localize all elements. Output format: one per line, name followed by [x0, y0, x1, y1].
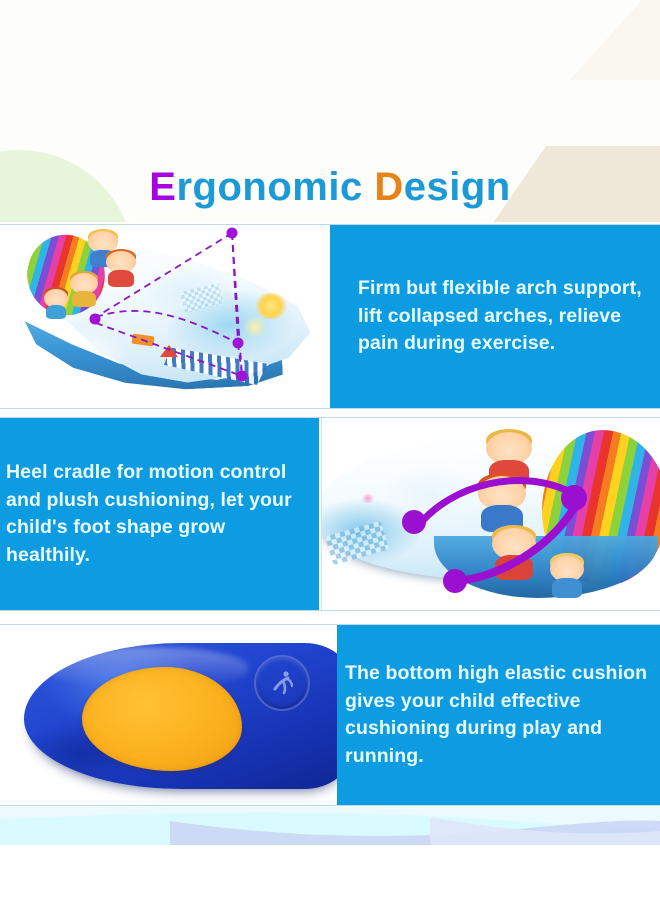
marker-dot	[227, 228, 238, 239]
feature-row-heel-cradle: Heel cradle for motion control and plush…	[0, 417, 660, 611]
feature-description: Firm but flexible arch support, lift col…	[330, 275, 660, 358]
wave-decoration	[0, 807, 660, 845]
page-title: Ergonomic Design	[0, 164, 660, 210]
marker-dot	[561, 485, 587, 511]
title-letter-e: E	[149, 165, 176, 209]
motion-arrow-upper	[418, 481, 574, 526]
feature-image-heel-cradle	[321, 418, 660, 610]
feature-text-elastic-cushion: The bottom high elastic cushion gives yo…	[337, 625, 660, 805]
feature-description: Heel cradle for motion control and plush…	[0, 459, 319, 569]
feature-text-arch-support: Firm but flexible arch support, lift col…	[330, 225, 660, 408]
marker-dot	[237, 371, 248, 382]
title-word-rgonomic: rgonomic	[176, 165, 374, 209]
feature-text-heel-cradle: Heel cradle for motion control and plush…	[0, 418, 319, 610]
diagram-marker-dots	[90, 228, 248, 382]
marker-dot	[90, 314, 101, 325]
feature-row-arch-support: Firm but flexible arch support, lift col…	[0, 224, 660, 409]
brand-logo-emboss	[254, 655, 310, 711]
motion-arrow-lower	[464, 508, 574, 580]
feature-image-arch-support	[0, 225, 330, 408]
running-figure-icon	[267, 668, 297, 698]
marker-dot	[443, 569, 467, 593]
feature-row-elastic-cushion: The bottom high elastic cushion gives yo…	[0, 624, 660, 806]
beige-corner-decoration-secondary	[570, 0, 660, 80]
heel-cradle-motion-diagram	[322, 418, 660, 610]
footer-wave-band	[0, 807, 660, 845]
insole-bottom-illustration	[24, 633, 337, 805]
title-word-esign: esign	[404, 165, 511, 209]
title-letter-d: D	[374, 165, 403, 209]
marker-dot	[402, 510, 426, 534]
feature-description: The bottom high elastic cushion gives yo…	[337, 660, 660, 770]
arch-support-diagram	[0, 225, 330, 408]
feature-image-elastic-cushion	[0, 625, 337, 805]
infographic-page: Ergonomic Design	[0, 0, 660, 900]
header-banner: Ergonomic Design	[0, 0, 660, 222]
diagram-marker-dots	[402, 485, 587, 593]
marker-dot	[233, 338, 244, 349]
